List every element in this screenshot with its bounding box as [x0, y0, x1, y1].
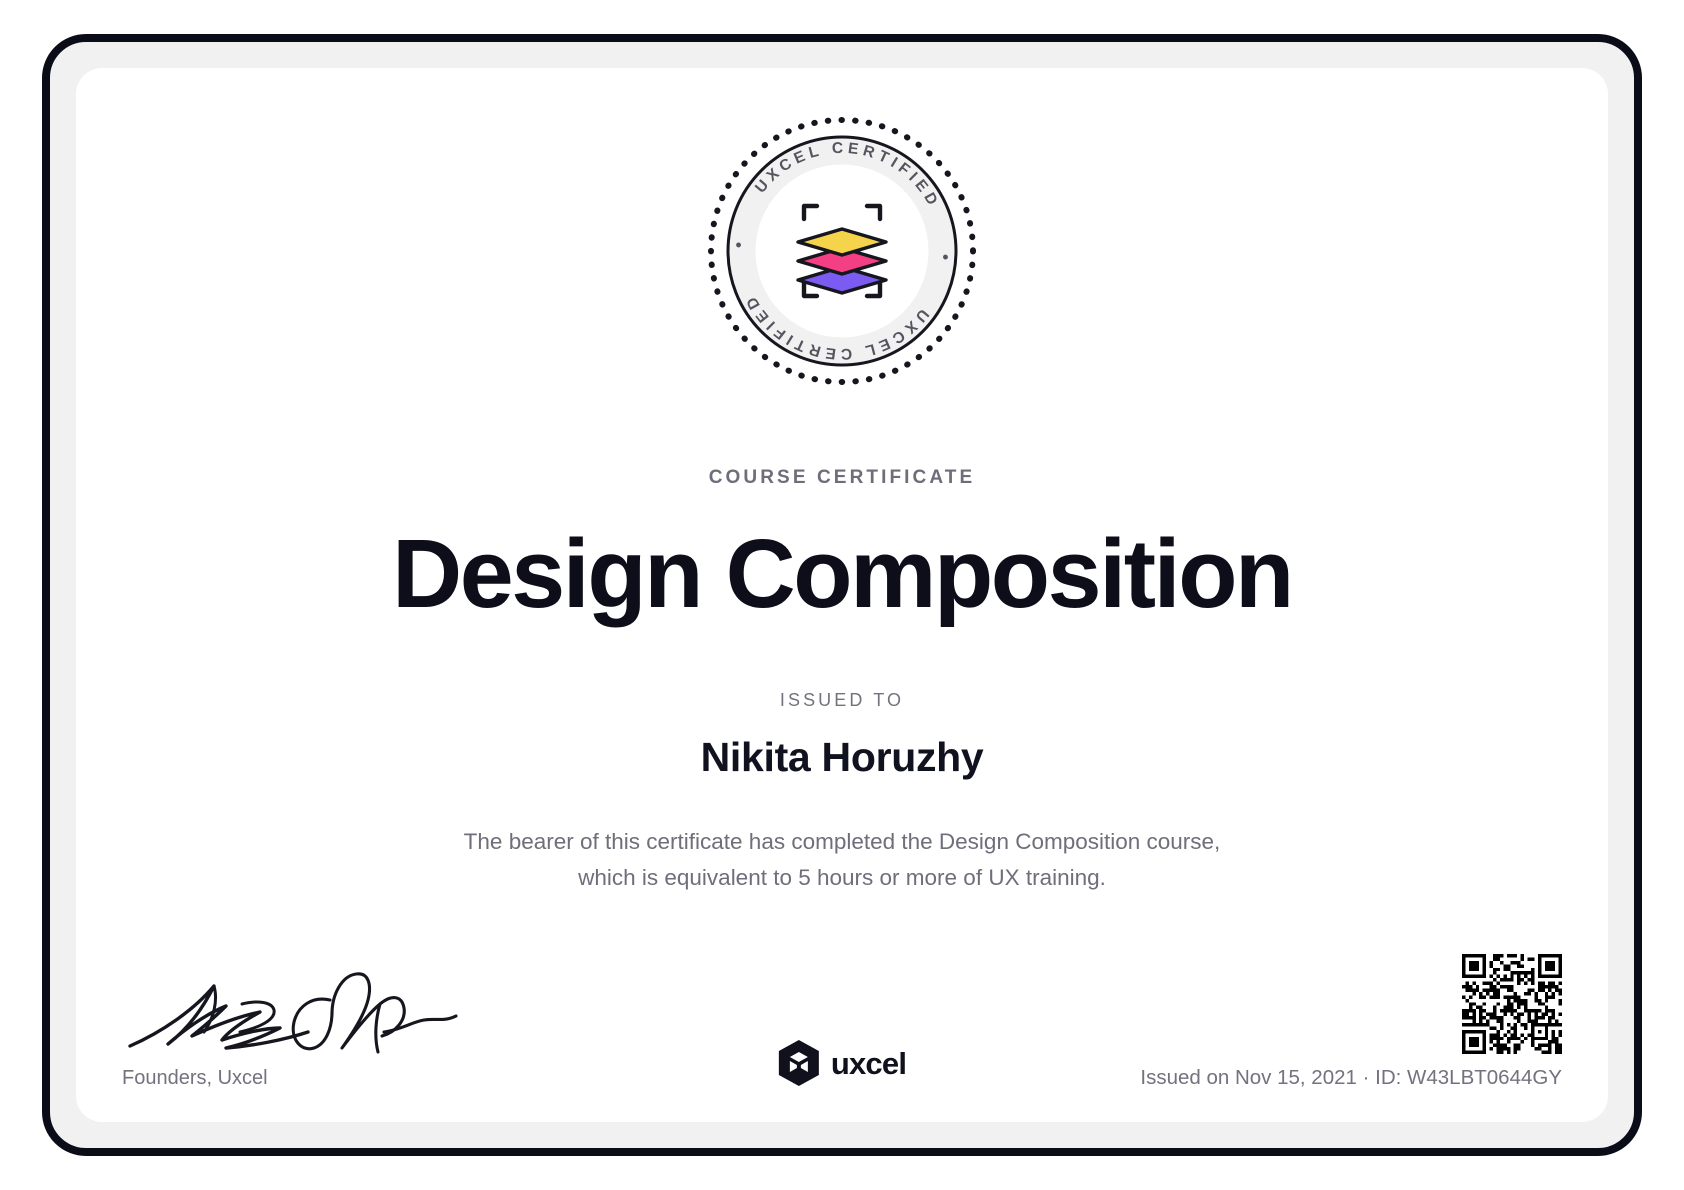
certificate-body: COURSE CERTIFICATE Design Composition IS… — [76, 468, 1608, 897]
uxcel-brand: uxcel — [778, 1040, 906, 1086]
certificate-frame: UXCEL CERTIFIED UXCEL CERTIFIED • • — [42, 34, 1642, 1156]
uxcel-wordmark: uxcel — [831, 1048, 906, 1079]
certificate-description: The bearer of this certificate has compl… — [76, 824, 1608, 897]
description-line-1: The bearer of this certificate has compl… — [76, 824, 1608, 860]
signature-block: Founders, Uxcel — [122, 970, 542, 1088]
certificate-card: UXCEL CERTIFIED UXCEL CERTIFIED • • — [76, 68, 1608, 1122]
uxcel-certified-seal-icon: UXCEL CERTIFIED UXCEL CERTIFIED • • — [703, 112, 981, 390]
qr-code[interactable] — [1462, 954, 1562, 1054]
signature-caption: Founders, Uxcel — [122, 1068, 542, 1088]
founder-signature-two — [284, 970, 474, 1062]
certificate-meta: Issued on Nov 15, 2021 · ID: W43LBT0644G… — [1002, 954, 1562, 1089]
svg-text:•: • — [935, 253, 955, 265]
description-line-2: which is equivalent to 5 hours or more o… — [76, 860, 1608, 896]
recipient-name: Nikita Horuzhy — [76, 735, 1608, 780]
course-title: Design Composition — [76, 523, 1608, 626]
founder-signatures — [122, 970, 542, 1062]
uxcel-hexagon-logo-icon — [778, 1040, 820, 1086]
issued-to-label: ISSUED TO — [76, 691, 1608, 709]
certificate-eyebrow: COURSE CERTIFICATE — [76, 468, 1608, 487]
certification-seal: UXCEL CERTIFIED UXCEL CERTIFIED • • — [76, 112, 1608, 390]
issued-meta: Issued on Nov 15, 2021 · ID: W43LBT0644G… — [1002, 1068, 1562, 1089]
svg-text:•: • — [729, 237, 749, 249]
certificate-footer: Founders, Uxcel uxcel — [122, 938, 1562, 1088]
qr-code-wrap — [1002, 954, 1562, 1054]
